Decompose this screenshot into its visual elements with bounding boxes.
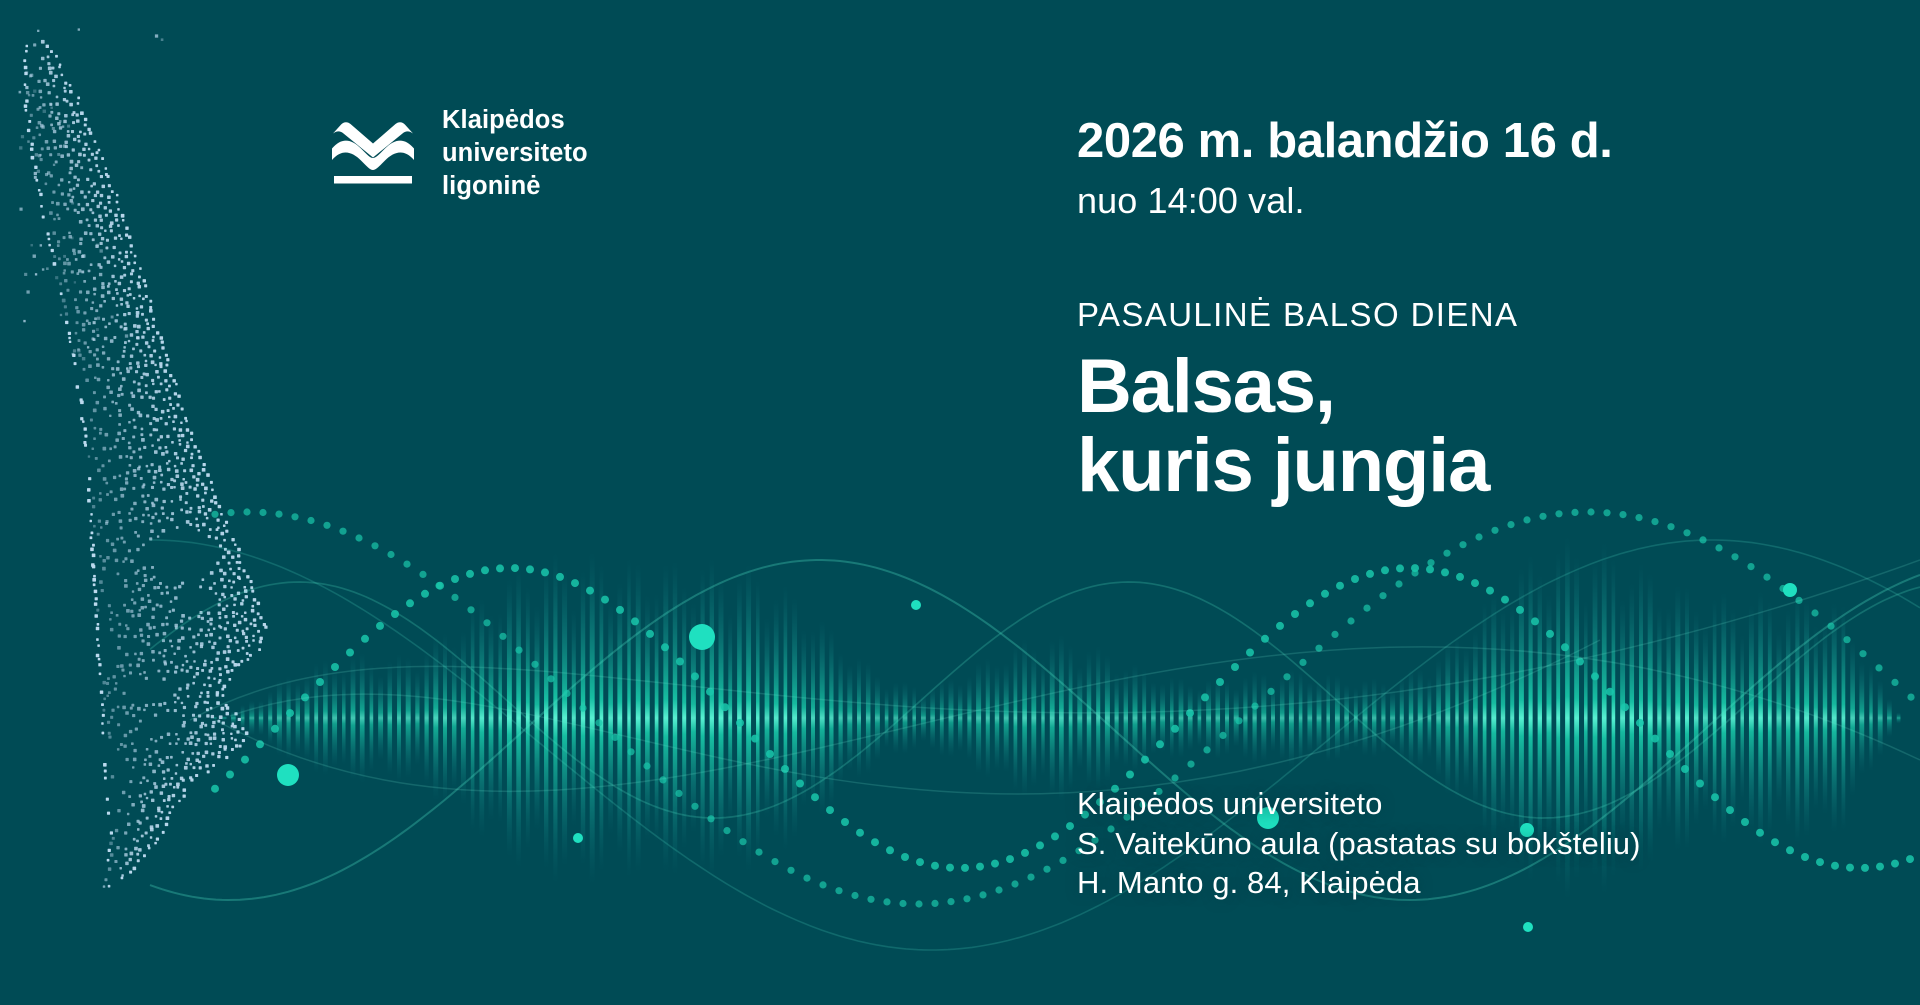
waveform-bar — [893, 682, 898, 753]
sine-dot — [421, 590, 429, 598]
face-particle — [69, 103, 73, 107]
face-particle — [223, 745, 227, 749]
face-particle — [109, 447, 112, 450]
waveform-bar — [866, 663, 871, 774]
face-particle — [103, 763, 107, 767]
face-particle — [35, 273, 37, 275]
face-particle — [180, 509, 183, 512]
face-particle — [144, 606, 147, 609]
face-particle — [104, 777, 107, 780]
face-particle — [152, 318, 155, 321]
face-particle — [171, 441, 174, 444]
face-particle — [225, 530, 228, 533]
face-particle — [130, 407, 134, 411]
face-particle — [99, 273, 102, 276]
face-particle — [83, 441, 86, 444]
face-particle — [237, 663, 240, 666]
face-particle — [71, 237, 74, 240]
face-particle — [177, 639, 181, 643]
face-particle — [122, 355, 125, 358]
face-particle — [137, 613, 141, 617]
face-particle — [173, 427, 176, 430]
face-particle — [80, 398, 83, 401]
waveform-bar — [213, 717, 216, 720]
face-particle — [37, 80, 40, 83]
face-particle — [257, 602, 261, 606]
face-particle — [100, 194, 103, 197]
face-particle — [105, 214, 108, 217]
face-particle — [153, 782, 156, 785]
waveform-bar — [471, 606, 475, 830]
face-particle — [96, 358, 99, 361]
waveform-bar — [949, 679, 954, 758]
face-particle — [116, 304, 118, 306]
face-particle — [126, 471, 129, 474]
face-particle — [125, 234, 128, 237]
face-particle — [196, 478, 200, 482]
face-particle — [241, 727, 244, 730]
face-particle — [160, 791, 163, 794]
face-particle — [118, 234, 121, 237]
sine-dot — [811, 793, 819, 801]
face-particle — [21, 135, 24, 138]
sine-dot — [466, 570, 474, 578]
face-particle — [63, 87, 65, 89]
face-particle — [206, 714, 209, 717]
face-particle — [249, 654, 252, 657]
face-particle — [195, 758, 199, 762]
face-particle — [71, 202, 74, 205]
face-particle — [226, 634, 230, 638]
face-particle — [140, 781, 143, 784]
face-particle — [121, 393, 124, 396]
sine-dot — [835, 887, 842, 894]
face-particle — [87, 128, 90, 131]
face-particle — [47, 232, 50, 235]
face-particle — [61, 192, 64, 195]
sine-dot — [1059, 857, 1066, 864]
face-particle — [181, 702, 183, 704]
face-particle — [166, 591, 169, 594]
face-particle — [151, 502, 154, 505]
waveform-bar — [792, 598, 797, 837]
face-particle — [231, 538, 234, 541]
face-particle — [242, 632, 245, 635]
face-particle — [49, 71, 53, 75]
face-particle — [146, 780, 149, 783]
face-particle — [177, 646, 181, 650]
face-particle — [185, 510, 188, 513]
face-particle — [69, 90, 73, 94]
face-particle — [216, 562, 219, 565]
face-particle — [159, 362, 162, 365]
face-particle — [140, 433, 143, 436]
face-particle — [220, 626, 223, 629]
sine-dot — [1051, 832, 1059, 840]
face-particle — [161, 760, 165, 764]
face-particle — [56, 214, 59, 217]
face-particle — [98, 149, 101, 152]
face-particle — [167, 768, 170, 771]
face-particle — [221, 707, 225, 711]
face-particle — [180, 422, 182, 424]
venue-line-3: H. Manto g. 84, Klaipėda — [1077, 863, 1641, 903]
face-particle — [174, 465, 176, 467]
face-particle — [160, 435, 163, 438]
face-particle — [195, 518, 198, 521]
face-particle — [132, 348, 135, 351]
face-particle — [232, 723, 234, 725]
face-particle — [106, 175, 109, 178]
face-particle — [245, 636, 248, 639]
face-particle — [166, 623, 169, 626]
face-particle — [49, 103, 52, 106]
face-particle — [234, 637, 237, 640]
face-particle — [138, 276, 141, 279]
face-particle — [226, 621, 229, 624]
waveform-bar — [287, 677, 291, 759]
face-particle — [111, 401, 114, 404]
face-particle — [153, 350, 156, 353]
face-particle — [226, 706, 229, 709]
face-particle — [236, 629, 239, 632]
face-particle — [96, 328, 99, 331]
face-particle — [201, 722, 204, 725]
waveform-bar — [1022, 640, 1027, 797]
face-particle — [69, 84, 72, 87]
face-particle — [133, 474, 136, 477]
face-particle — [103, 395, 106, 398]
face-particle — [219, 715, 223, 719]
face-particle — [68, 181, 70, 183]
face-particle — [99, 555, 102, 558]
face-particle — [123, 327, 126, 330]
face-particle — [50, 174, 53, 177]
face-particle — [92, 505, 95, 508]
face-particle — [42, 268, 44, 270]
face-particle — [38, 154, 41, 157]
face-particle — [125, 334, 128, 337]
sine-dot — [301, 693, 309, 701]
face-particle — [230, 733, 232, 735]
face-particle — [129, 464, 132, 467]
face-particle — [161, 346, 164, 349]
face-particle — [132, 450, 135, 453]
face-particle — [105, 482, 108, 485]
face-particle — [161, 341, 164, 344]
waveform-bar — [976, 663, 981, 773]
face-particle — [103, 447, 107, 451]
sine-dot — [376, 622, 384, 630]
face-particle — [231, 748, 234, 751]
headline-line-1: Balsas, — [1077, 348, 1518, 426]
face-particle — [89, 350, 92, 353]
face-particle — [115, 559, 118, 562]
face-particle — [213, 495, 217, 499]
face-particle — [186, 684, 189, 687]
face-particle — [139, 414, 143, 418]
face-particle — [170, 600, 173, 603]
face-particle — [205, 764, 208, 767]
sine-dot — [856, 829, 864, 837]
face-particle — [82, 420, 84, 422]
face-particle — [89, 232, 92, 235]
face-particle — [125, 758, 128, 761]
face-particle — [39, 154, 41, 156]
face-particle — [176, 474, 180, 478]
face-particle — [133, 426, 136, 429]
face-particle — [145, 373, 148, 376]
face-particle — [59, 145, 62, 148]
face-particle — [132, 435, 135, 438]
face-particle — [95, 597, 98, 600]
face-particle — [125, 455, 128, 458]
face-particle — [154, 470, 157, 473]
face-particle — [120, 385, 123, 388]
face-particle — [120, 537, 123, 540]
face-particle — [257, 630, 260, 633]
face-particle — [163, 660, 166, 663]
face-particle — [102, 366, 105, 369]
face-particle — [210, 743, 212, 745]
face-particle — [129, 871, 132, 874]
face-particle — [103, 559, 106, 562]
face-particle — [181, 486, 185, 490]
face-particle — [253, 618, 256, 621]
face-particle — [99, 432, 102, 435]
face-particle — [162, 512, 165, 515]
face-particle — [137, 282, 140, 285]
face-particle — [173, 653, 175, 655]
sine-dot — [601, 596, 609, 604]
sine-dot — [331, 663, 339, 671]
face-particle — [139, 720, 142, 723]
face-particle — [64, 90, 67, 93]
face-particle — [169, 640, 172, 643]
face-particle — [235, 744, 238, 747]
face-particle — [118, 387, 122, 391]
face-particle — [236, 730, 239, 733]
face-particle — [155, 429, 158, 432]
face-particle — [250, 580, 253, 583]
face-particle — [244, 612, 247, 615]
face-particle — [144, 364, 147, 367]
face-particle — [41, 125, 44, 128]
face-particle — [216, 701, 220, 705]
sine-dot — [771, 858, 778, 865]
face-particle — [108, 201, 111, 204]
face-particle — [41, 40, 45, 44]
face-particle — [111, 275, 114, 278]
face-particle — [122, 377, 126, 381]
face-particle — [92, 337, 95, 340]
face-particle — [145, 704, 148, 707]
face-particle — [229, 568, 232, 571]
face-particle — [185, 501, 188, 504]
face-particle — [64, 279, 67, 282]
face-particle — [121, 874, 123, 876]
face-particle — [130, 355, 133, 358]
face-particle — [224, 548, 227, 551]
face-particle — [129, 366, 132, 369]
face-particle — [149, 300, 152, 303]
face-particle — [223, 539, 226, 542]
face-particle — [152, 504, 156, 508]
face-particle — [109, 390, 113, 394]
face-particle — [55, 276, 58, 279]
headline-line-2: kuris jungia — [1077, 427, 1518, 505]
sine-dot — [979, 891, 986, 898]
face-particle — [186, 687, 189, 690]
sine-dot — [595, 719, 602, 726]
face-particle — [179, 428, 183, 432]
face-particle — [87, 488, 91, 492]
face-particle — [78, 153, 82, 157]
face-particle — [77, 160, 80, 163]
waveform-bar — [489, 615, 494, 820]
face-particle — [171, 806, 174, 809]
face-particle — [207, 629, 210, 632]
face-particle — [167, 483, 170, 486]
face-particle — [96, 654, 100, 658]
face-particle — [71, 113, 74, 116]
face-particle — [142, 584, 145, 587]
face-particle — [154, 498, 158, 502]
sine-dot — [691, 672, 699, 680]
face-particle — [228, 562, 231, 565]
face-particle — [69, 171, 72, 174]
face-particle — [157, 535, 159, 537]
face-particle — [176, 526, 179, 529]
face-particle — [248, 644, 250, 646]
face-particle — [114, 445, 117, 448]
face-particle — [152, 325, 155, 328]
waveform-bar — [581, 571, 585, 864]
face-particle — [107, 721, 110, 724]
face-particle — [118, 634, 121, 637]
face-particle — [53, 218, 56, 221]
waveform-bar — [765, 618, 770, 818]
face-particle — [200, 628, 203, 631]
face-particle — [155, 824, 159, 828]
face-particle — [174, 587, 177, 590]
face-particle — [80, 166, 83, 169]
face-particle — [94, 377, 97, 380]
face-particle — [130, 610, 133, 613]
face-particle — [245, 595, 248, 598]
face-particle — [143, 373, 146, 376]
sine-dot — [1906, 855, 1914, 863]
face-particle — [77, 349, 80, 352]
face-particle — [150, 529, 154, 533]
face-particle — [45, 140, 49, 144]
face-particle — [173, 693, 176, 696]
face-particle — [58, 217, 61, 220]
face-particle — [161, 38, 164, 41]
waveform-bar — [562, 570, 567, 865]
waveform-bar — [746, 565, 751, 871]
face-particle — [133, 381, 136, 384]
face-particle — [96, 224, 99, 227]
face-particle — [154, 364, 156, 366]
face-particle — [232, 615, 235, 618]
face-particle — [192, 714, 195, 717]
face-particle — [189, 511, 192, 514]
face-particle — [74, 281, 76, 283]
face-particle — [189, 666, 192, 669]
face-particle — [86, 319, 89, 322]
face-particle — [137, 365, 140, 368]
face-particle — [113, 549, 117, 553]
face-particle — [152, 770, 156, 774]
face-particle — [123, 604, 126, 607]
face-particle — [194, 743, 197, 746]
face-particle — [176, 786, 179, 789]
face-particle — [133, 749, 136, 752]
face-particle — [106, 493, 109, 496]
face-particle — [167, 798, 170, 801]
face-particle — [196, 484, 199, 487]
face-particle — [163, 500, 166, 503]
face-particle — [177, 738, 180, 741]
waveform-bar — [323, 660, 328, 775]
face-particle — [103, 697, 106, 700]
face-particle — [200, 642, 203, 645]
face-particle — [138, 448, 141, 451]
face-particle — [96, 609, 99, 612]
waveform-bar — [930, 687, 935, 749]
face-particle — [64, 305, 67, 308]
face-particle — [221, 593, 224, 596]
face-particle — [25, 99, 28, 102]
face-particle — [92, 330, 95, 333]
face-particle — [65, 321, 68, 324]
face-particle — [84, 118, 87, 121]
sine-dot — [915, 900, 922, 907]
face-particle — [38, 189, 41, 192]
face-particle — [182, 779, 185, 782]
face-particle — [128, 512, 131, 515]
face-particle — [101, 703, 104, 706]
face-particle — [117, 809, 120, 812]
face-particle — [138, 848, 142, 852]
face-particle — [103, 477, 107, 481]
face-particle — [153, 417, 156, 420]
face-particle — [181, 408, 184, 411]
waveform-bar — [296, 682, 300, 754]
sine-dot — [961, 864, 969, 872]
face-particle — [27, 129, 30, 132]
face-particle — [60, 292, 63, 295]
face-particle — [130, 559, 134, 563]
face-particle — [153, 476, 157, 480]
face-particle — [213, 733, 216, 736]
face-particle — [141, 313, 144, 316]
face-particle — [46, 82, 50, 86]
face-particle — [192, 635, 195, 638]
face-particle — [124, 341, 127, 344]
face-particle — [181, 751, 184, 754]
face-particle — [199, 695, 202, 698]
face-particle — [111, 709, 114, 712]
face-particle — [111, 190, 114, 193]
face-particle — [211, 489, 214, 492]
face-particle — [133, 324, 137, 328]
face-particle — [191, 464, 194, 467]
face-particle — [78, 269, 81, 272]
face-particle — [62, 125, 64, 127]
face-particle — [145, 507, 149, 511]
